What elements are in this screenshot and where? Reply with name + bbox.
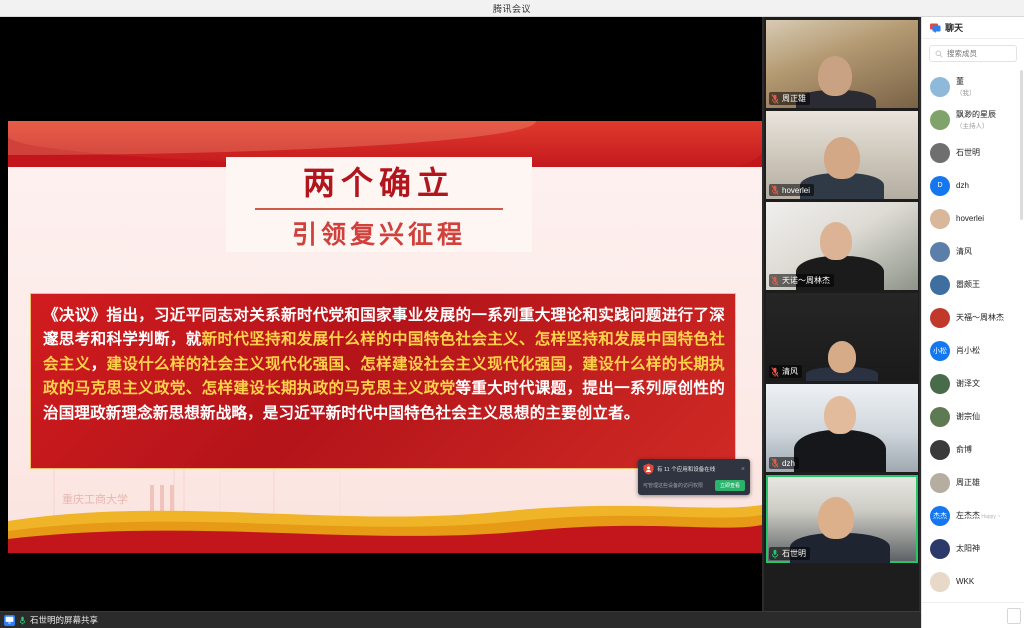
shared-screen-stage[interactable]: 重庆工商大学 两个确立 引领复兴征程 《决议》指出，习近平同志对关系新时代党和国… (0, 17, 762, 611)
panel-footer-button[interactable] (1007, 608, 1021, 624)
panel-title: 聊天 (945, 21, 963, 34)
member-list-item[interactable]: 嚣颇王 (922, 268, 1024, 301)
video-tile-name: 周正雄 (782, 93, 806, 104)
member-name-block: 太阳神 (956, 543, 980, 554)
avatar: 小松 (930, 341, 950, 361)
member-name: 嚣颇王 (956, 279, 980, 290)
member-name-block: WKK (956, 577, 974, 586)
close-icon[interactable]: × (741, 466, 745, 473)
participant-face (818, 56, 852, 96)
participant-face (828, 341, 856, 373)
member-name: 谢宗仙 (956, 411, 980, 422)
avatar: 杰杰 (930, 506, 950, 526)
window-titlebar: 腾讯会议 (0, 0, 1024, 17)
slide-title-card: 两个确立 引领复兴征程 (226, 157, 532, 252)
slide-body-segment: ， (91, 355, 107, 373)
participant-face (824, 396, 856, 434)
panel-footer (922, 602, 1024, 628)
member-list-item[interactable]: 董（我） (922, 70, 1024, 103)
avatar (930, 539, 950, 559)
video-tile[interactable]: 周正雄 (766, 20, 918, 108)
slide-body-text: 《决议》指出，习近平同志对关系新时代党和国家事业发展的一系列重大理论和实践问题进… (30, 293, 736, 469)
slide-title-rule (255, 208, 503, 210)
member-name: 天福～周林杰 (956, 312, 1004, 323)
panel-scrollbar[interactable] (1020, 70, 1023, 220)
shield-icon (643, 463, 654, 475)
member-name: 周正雄 (956, 477, 980, 488)
member-list-item[interactable]: Ddzh (922, 169, 1024, 202)
video-filmstrip[interactable]: 周正雄hoverlei天诺～周林杰清风dzh石世明 (764, 17, 919, 611)
member-list-item[interactable]: 天福～周林杰 (922, 301, 1024, 334)
member-list-item[interactable]: WKK (922, 565, 1024, 598)
avatar (930, 572, 950, 592)
avatar (930, 473, 950, 493)
member-name: WKK (956, 577, 974, 586)
avatar (930, 407, 950, 427)
member-name: 石世明 (956, 147, 980, 158)
member-list-item[interactable]: 太阳神 (922, 532, 1024, 565)
video-tile-nameplate: 石世明 (769, 547, 810, 560)
member-name-block: hoverlei (956, 214, 984, 223)
microphone-muted-icon (771, 185, 779, 195)
popup-action-button[interactable]: 立即查看 (715, 480, 745, 491)
video-tile-nameplate: hoverlei (769, 184, 814, 196)
video-tile[interactable]: hoverlei (766, 111, 918, 199)
member-list-item[interactable]: hoverlei (922, 202, 1024, 235)
avatar (930, 440, 950, 460)
video-tile-nameplate: 天诺～周林杰 (769, 274, 834, 287)
member-name: 清风 (956, 246, 972, 257)
member-name-block: 肖小松 (956, 345, 980, 356)
video-tile-nameplate: dzh (769, 457, 799, 469)
member-name: 太阳神 (956, 543, 980, 554)
avatar (930, 374, 950, 394)
screen-share-icon (4, 615, 15, 626)
member-name-block: dzh (956, 181, 969, 190)
video-tile[interactable]: 天诺～周林杰 (766, 202, 918, 290)
member-name: 飘渺的星辰 (956, 109, 996, 120)
video-tile-name: hoverlei (782, 186, 810, 195)
avatar (930, 242, 950, 262)
avatar (930, 308, 950, 328)
avatar: D (930, 176, 950, 196)
participant-face (824, 137, 860, 179)
meeting-window: 腾讯会议 重庆工商大学 (0, 0, 1024, 628)
member-name-block: 嚣颇王 (956, 279, 980, 290)
member-list-item[interactable]: 周正雄 (922, 466, 1024, 499)
slide-title-sub: 引领复兴征程 (292, 215, 466, 251)
microphone-on-icon (771, 549, 779, 559)
microphone-muted-icon (771, 94, 779, 104)
avatar (930, 275, 950, 295)
member-name-block: 清风 (956, 246, 972, 257)
search-box[interactable] (929, 45, 1017, 62)
member-list-item[interactable]: 清风 (922, 235, 1024, 268)
member-name-block: 左杰杰 Happy ~ (956, 510, 1000, 521)
device-notification-popup[interactable]: 有 11 个应用和设备在线 × 可管理这些设备的访问权限 立即查看 (638, 459, 750, 495)
video-tile-nameplate: 清风 (769, 365, 802, 378)
member-name: 俞博 (956, 444, 972, 455)
member-name-block: 董（我） (956, 76, 976, 97)
avatar (930, 209, 950, 229)
video-tile-nameplate: 周正雄 (769, 92, 810, 105)
video-tile[interactable]: 石世明 (766, 475, 918, 563)
member-list-item[interactable]: 小松肖小松 (922, 334, 1024, 367)
search-icon (935, 50, 943, 58)
video-tile-name: 天诺～周林杰 (782, 275, 830, 286)
video-tile-name: 清风 (782, 366, 798, 377)
video-tile-name: dzh (782, 459, 795, 468)
member-name-block: 谢泽文 (956, 378, 980, 389)
member-list-item[interactable]: 谢宗仙 (922, 400, 1024, 433)
video-tile[interactable]: dzh (766, 384, 918, 472)
microphone-muted-icon (771, 276, 779, 286)
participant-face (820, 222, 852, 260)
popup-description: 可管理这些设备的访问权限 (643, 482, 703, 489)
member-name-block: 飘渺的星辰（主持人） (956, 109, 996, 130)
microphone-icon (19, 616, 26, 625)
statusbar-text: 石世明的屏幕共享 (30, 614, 98, 626)
avatar (930, 77, 950, 97)
member-name-block: 谢宗仙 (956, 411, 980, 422)
microphone-muted-icon (771, 458, 779, 468)
member-name: 谢泽文 (956, 378, 980, 389)
video-tile[interactable]: 清风 (766, 293, 918, 381)
member-name: 董 (956, 76, 976, 87)
popup-title: 有 11 个应用和设备在线 (657, 465, 715, 473)
participant-silhouette (794, 430, 886, 472)
slide-title-main: 两个确立 (303, 158, 455, 204)
slide-wave-decoration (8, 491, 762, 553)
window-title: 腾讯会议 (493, 2, 531, 15)
member-list-item[interactable]: 谢泽文 (922, 367, 1024, 400)
avatar (930, 110, 950, 130)
presentation-slide: 重庆工商大学 两个确立 引领复兴征程 《决议》指出，习近平同志对关系新时代党和国… (8, 121, 762, 553)
participants-panel: 聊天 董（我）飘渺的星辰（主持人）石世明Ddzhhoverlei清风嚣颇王天福～… (921, 17, 1024, 628)
search-container (922, 39, 1024, 66)
video-tile-name: 石世明 (782, 548, 806, 559)
member-name: hoverlei (956, 214, 984, 223)
member-name-block: 俞博 (956, 444, 972, 455)
member-name: dzh (956, 181, 969, 190)
member-list-item[interactable]: 石世明 (922, 136, 1024, 169)
avatar (930, 143, 950, 163)
microphone-muted-icon (771, 367, 779, 377)
member-list[interactable]: 董（我）飘渺的星辰（主持人）石世明Ddzhhoverlei清风嚣颇王天福～周林杰… (922, 66, 1024, 626)
participant-face (818, 497, 854, 539)
member-name: 左杰杰 Happy ~ (956, 510, 1000, 521)
panel-header: 聊天 (922, 17, 1024, 39)
screenshare-statusbar: 石世明的屏幕共享 (0, 611, 921, 628)
member-name-block: 石世明 (956, 147, 980, 158)
chat-icon (930, 23, 941, 33)
member-name-suffix: Happy ~ (980, 514, 1000, 520)
search-input[interactable] (947, 49, 1011, 58)
member-list-item[interactable]: 杰杰左杰杰 Happy ~ (922, 499, 1024, 532)
member-role: （主持人） (956, 120, 996, 130)
member-name-block: 周正雄 (956, 477, 980, 488)
member-name-block: 天福～周林杰 (956, 312, 1004, 323)
member-list-item[interactable]: 俞博 (922, 433, 1024, 466)
member-list-item[interactable]: 飘渺的星辰（主持人） (922, 103, 1024, 136)
member-role: （我） (956, 87, 976, 97)
member-name: 肖小松 (956, 345, 980, 356)
